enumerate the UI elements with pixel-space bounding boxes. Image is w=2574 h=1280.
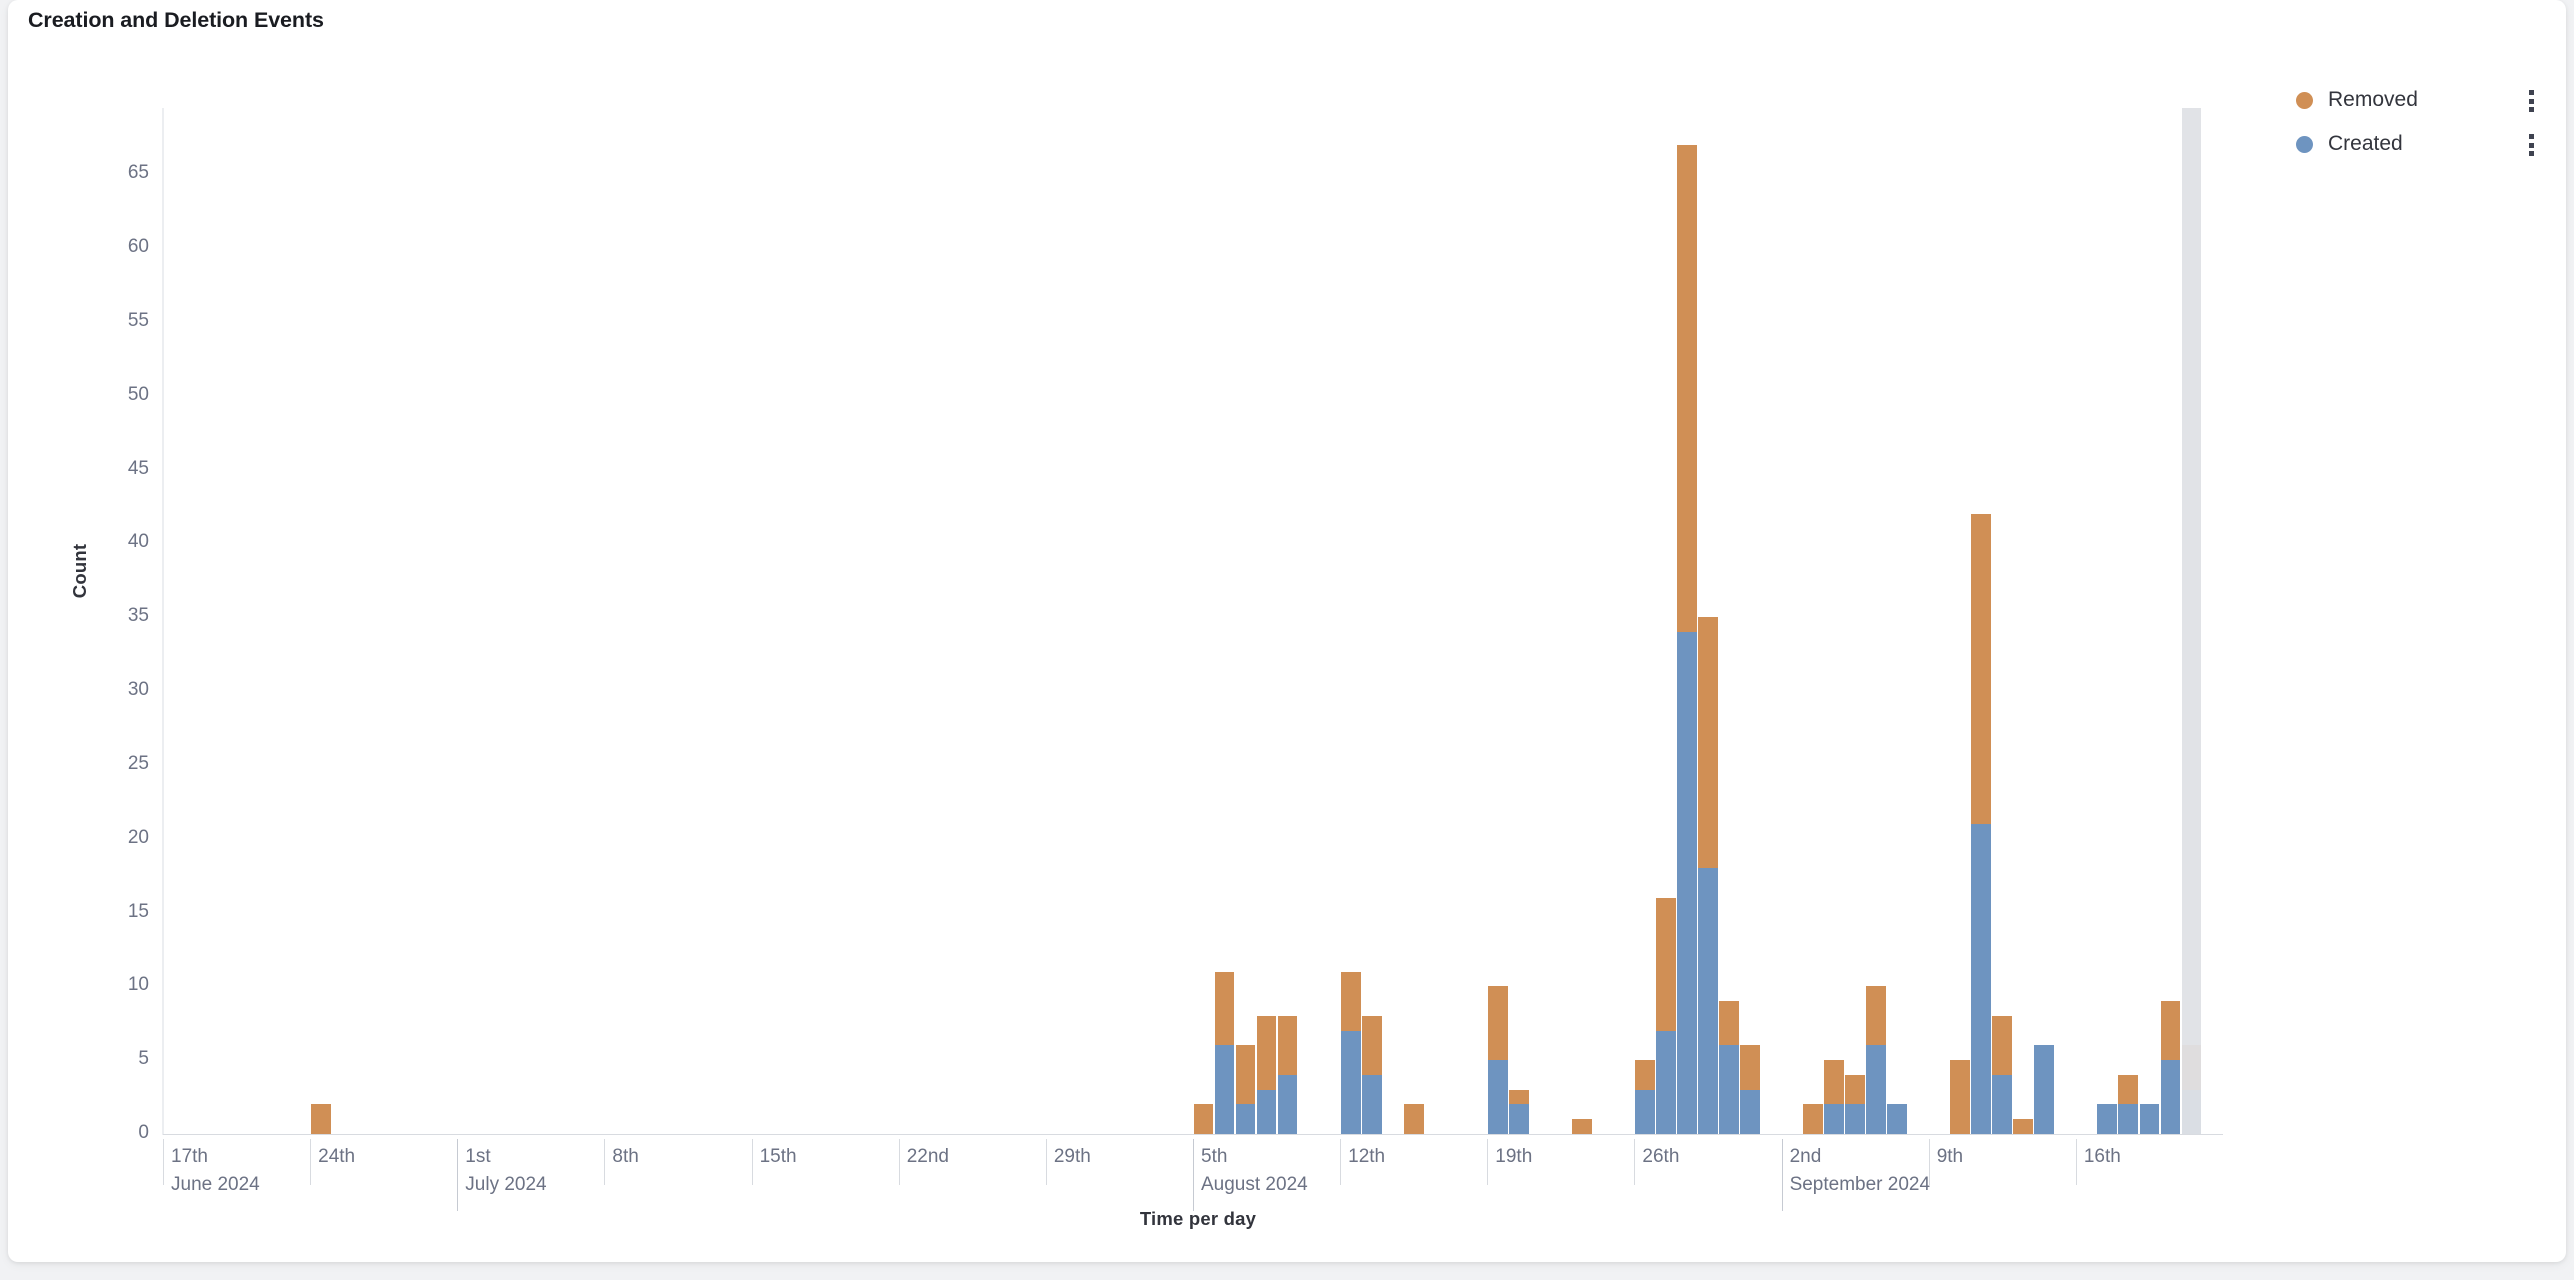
bar-stack[interactable] (311, 1104, 331, 1134)
bar-stack[interactable] (1866, 986, 1886, 1134)
y-axis-tick-label: 65 (89, 162, 149, 184)
x-axis-tick-label: 9th (1937, 1146, 1963, 1168)
bar-segment-created[interactable] (1215, 1045, 1235, 1134)
x-axis-tick-label: 29th (1054, 1146, 1091, 1168)
bar-stack[interactable] (2140, 1104, 2160, 1134)
bar-segment-created[interactable] (1698, 868, 1718, 1134)
x-axis-month-label: September 2024 (1790, 1174, 1931, 1196)
vertical-dots-icon[interactable] (2524, 90, 2538, 112)
y-axis-tick-label: 20 (89, 827, 149, 849)
bar-segment-removed[interactable] (1404, 1104, 1424, 1134)
y-axis-tick-label: 0 (89, 1122, 149, 1144)
bar-segment-created[interactable] (1257, 1090, 1277, 1134)
x-axis-tick-separator (163, 1139, 164, 1185)
x-axis-month-label: July 2024 (465, 1174, 546, 1196)
bar-segment-removed[interactable] (1488, 986, 1508, 1060)
y-axis-tick-label: 25 (89, 753, 149, 775)
x-axis-line (163, 1134, 2223, 1135)
x-axis-tick-label: 24th (318, 1146, 355, 1168)
x-axis-tick-separator (2076, 1139, 2077, 1185)
bar-segment-created[interactable] (1677, 632, 1697, 1134)
x-axis-month-label: June 2024 (171, 1174, 260, 1196)
bar-segment-created[interactable] (1635, 1090, 1655, 1134)
bar-segment-created[interactable] (1509, 1104, 1529, 1134)
y-axis-tick-label: 40 (89, 531, 149, 553)
x-axis-tick-separator (604, 1139, 605, 1185)
y-axis-tick-label: 55 (89, 310, 149, 332)
y-axis-tick-label: 30 (89, 679, 149, 701)
bar-segment-removed[interactable] (1656, 898, 1676, 1031)
x-axis-tick-separator (310, 1139, 311, 1185)
bar-segment-created[interactable] (1971, 824, 1991, 1134)
bar-segment-removed[interactable] (1509, 1090, 1529, 1105)
bar-stack[interactable] (1971, 514, 1991, 1134)
bar-segment-created[interactable] (1740, 1090, 1760, 1134)
x-axis-tick-label: 1st (465, 1146, 490, 1168)
bar-stack[interactable] (1257, 1016, 1277, 1134)
bar-stack[interactable] (2013, 1119, 2033, 1134)
x-axis-tick-label: 12th (1348, 1146, 1385, 1168)
y-axis-tick-label: 15 (89, 901, 149, 923)
bar-segment-created[interactable] (1278, 1075, 1298, 1134)
y-axis-title: Count (69, 491, 91, 651)
bar-stack[interactable] (1992, 1016, 2012, 1134)
bar-segment-created[interactable] (1992, 1075, 2012, 1134)
x-axis-tick-separator (1634, 1139, 1635, 1185)
bar-segment-removed[interactable] (1824, 1060, 1844, 1104)
x-axis-tick-label: 15th (760, 1146, 797, 1168)
bar-segment-created[interactable] (2161, 1060, 2181, 1134)
bar-stack[interactable] (1950, 1060, 1970, 1134)
legend-item-removed[interactable]: Removed (2296, 78, 2566, 122)
x-axis-tick-label: 22nd (907, 1146, 949, 1168)
bar-stack[interactable] (1824, 1060, 1844, 1134)
legend-color-swatch-removed (2296, 92, 2313, 109)
bar-stack[interactable] (1572, 1119, 1592, 1134)
bar-stack[interactable] (1236, 1045, 1256, 1134)
bar-segment-created[interactable] (1887, 1104, 1907, 1134)
legend-item-label: Removed (2328, 88, 2418, 112)
chart-canvas[interactable]: Count 05101520253035404550556065 17thJun… (8, 0, 2566, 1262)
bar-stack[interactable] (1278, 1016, 1298, 1134)
x-axis-tick-separator (1193, 1139, 1194, 1211)
bar-segment-removed[interactable] (1845, 1075, 1865, 1105)
x-axis-tick-label: 5th (1201, 1146, 1227, 1168)
bar-segment-removed[interactable] (2161, 1001, 2181, 1060)
y-axis-tick-label: 60 (89, 236, 149, 258)
bar-stack[interactable] (1698, 617, 1718, 1134)
bar-segment-removed[interactable] (1215, 972, 1235, 1046)
y-axis-tick-label: 5 (89, 1048, 149, 1070)
bar-stack[interactable] (1719, 1001, 1739, 1134)
plot-area[interactable] (163, 108, 2223, 1134)
x-axis-tick-separator (899, 1139, 900, 1185)
bar-stack[interactable] (1656, 898, 1676, 1134)
bar-segment-created[interactable] (2097, 1104, 2117, 1134)
bar-segment-removed[interactable] (1803, 1104, 1823, 1134)
x-axis-title: Time per day (8, 1208, 2388, 1230)
y-axis-tick-label: 35 (89, 605, 149, 627)
bar-stack[interactable] (1677, 145, 1697, 1134)
bar-stack[interactable] (1509, 1090, 1529, 1134)
bar-segment-removed[interactable] (1341, 972, 1361, 1031)
bar-segment-removed[interactable] (1572, 1119, 1592, 1134)
vertical-dots-icon[interactable] (2524, 134, 2538, 156)
bar-segment-removed[interactable] (1278, 1016, 1298, 1075)
bar-segment-created[interactable] (1719, 1045, 1739, 1134)
bar-segment-removed[interactable] (1719, 1001, 1739, 1045)
bar-stack[interactable] (1845, 1075, 1865, 1134)
y-axis-tick-label: 45 (89, 458, 149, 480)
bar-stack[interactable] (1803, 1104, 1823, 1134)
x-axis-month-label: August 2024 (1201, 1174, 1308, 1196)
bar-segment-removed[interactable] (1362, 1016, 1382, 1075)
x-axis-tick-label: 8th (612, 1146, 638, 1168)
x-axis-tick-label: 19th (1495, 1146, 1532, 1168)
x-axis-tick-separator (752, 1139, 753, 1185)
bar-segment-created[interactable] (1845, 1104, 1865, 1134)
x-axis-tick-label: 26th (1642, 1146, 1679, 1168)
bar-stack[interactable] (2097, 1104, 2117, 1134)
bar-segment-removed[interactable] (311, 1104, 331, 1134)
bar-segment-removed[interactable] (1950, 1060, 1970, 1134)
bar-segment-created[interactable] (1236, 1104, 1256, 1134)
bar-segment-removed[interactable] (1257, 1016, 1277, 1090)
bar-segment-removed[interactable] (1236, 1045, 1256, 1104)
x-axis-tick-label: 2nd (1790, 1146, 1822, 1168)
x-axis-tick-separator (1340, 1139, 1341, 1185)
bar-segment-removed[interactable] (1740, 1045, 1760, 1089)
bar-stack[interactable] (1740, 1045, 1760, 1134)
bar-stack[interactable] (2118, 1075, 2138, 1134)
legend-item-label: Created (2328, 132, 2403, 156)
bar-segment-created[interactable] (2140, 1104, 2160, 1134)
bar-stack[interactable] (1341, 972, 1361, 1134)
bar-stack[interactable] (2161, 1001, 2181, 1134)
bar-stack[interactable] (2034, 1045, 2054, 1134)
bar-segment-created[interactable] (1488, 1060, 1508, 1134)
bar-stack[interactable] (1404, 1104, 1424, 1134)
bar-segment-removed[interactable] (2118, 1075, 2138, 1105)
bar-segment-created[interactable] (1341, 1031, 1361, 1134)
bar-segment-removed[interactable] (1992, 1016, 2012, 1075)
bar-stack[interactable] (1215, 972, 1235, 1134)
bar-segment-created[interactable] (2118, 1104, 2138, 1134)
bar-segment-created[interactable] (1824, 1104, 1844, 1134)
x-axis-tick-separator (457, 1139, 458, 1211)
legend-color-swatch-created (2296, 136, 2313, 153)
bar-segment-removed[interactable] (1698, 617, 1718, 868)
bar-segment-created[interactable] (1656, 1031, 1676, 1134)
x-axis-tick-separator (1782, 1139, 1783, 1211)
x-axis-tick-separator (1487, 1139, 1488, 1185)
bar-stack[interactable] (1362, 1016, 1382, 1134)
y-axis-tick-label: 50 (89, 384, 149, 406)
bar-stack[interactable] (1635, 1060, 1655, 1134)
bar-segment-created[interactable] (1362, 1075, 1382, 1134)
x-axis-tick-separator (1046, 1139, 1047, 1185)
bar-segment-created[interactable] (2034, 1045, 2054, 1134)
bar-segment-removed[interactable] (1866, 986, 1886, 1045)
bar-stack[interactable] (1488, 986, 1508, 1134)
bar-segment-removed[interactable] (1194, 1104, 1214, 1134)
legend-item-created[interactable]: Created (2296, 122, 2566, 166)
bar-segment-created[interactable] (1866, 1045, 1886, 1134)
bar-stack[interactable] (1194, 1104, 1214, 1134)
x-axis-tick-separator (1929, 1139, 1930, 1185)
bar-segment-removed[interactable] (2013, 1119, 2033, 1134)
bar-segment-removed[interactable] (1677, 145, 1697, 632)
bar-segment-removed[interactable] (1635, 1060, 1655, 1090)
y-axis-tick-label: 10 (89, 974, 149, 996)
bar-stack[interactable] (1887, 1104, 1907, 1134)
bar-segment-removed[interactable] (1971, 514, 1991, 824)
chart-legend: RemovedCreated (2296, 78, 2566, 166)
x-axis-tick-label: 16th (2084, 1146, 2121, 1168)
x-axis-tick-label: 17th (171, 1146, 208, 1168)
hover-highlight-band (2182, 108, 2202, 1134)
chart-panel-card: Creation and Deletion Events Count 05101… (8, 0, 2566, 1262)
